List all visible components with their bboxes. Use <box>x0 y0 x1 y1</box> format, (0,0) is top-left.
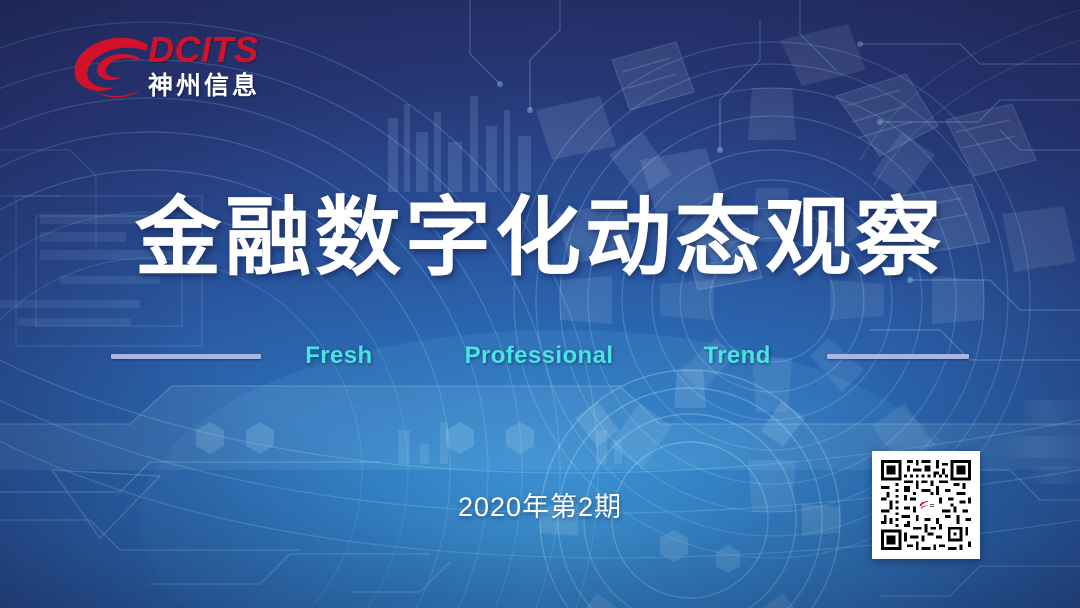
dcits-swoosh-icon <box>68 32 154 104</box>
dcits-logo-english: DCITS <box>148 30 288 70</box>
presentation-cover-slide: DCITS 神州信息 金融数字化动态观察 Fresh Professional … <box>0 0 1080 608</box>
tagline-rule-left <box>111 354 261 359</box>
dcits-logo-chinese: 神州信息 <box>148 71 288 101</box>
dcits-logo-text: DCITS 神州信息 <box>148 30 288 101</box>
tagline-word-fresh: Fresh <box>305 342 372 370</box>
dcits-logo: DCITS 神州信息 <box>68 28 288 108</box>
tagline-row: Fresh Professional Trend <box>0 338 1080 374</box>
qr-code[interactable] <box>872 451 980 559</box>
tagline-rule-right <box>827 354 969 359</box>
tagline-word-professional: Professional <box>465 342 614 370</box>
slide-title: 金融数字化动态观察 <box>0 186 1080 290</box>
qr-code-image <box>878 457 974 553</box>
tagline-word-trend: Trend <box>703 342 770 370</box>
